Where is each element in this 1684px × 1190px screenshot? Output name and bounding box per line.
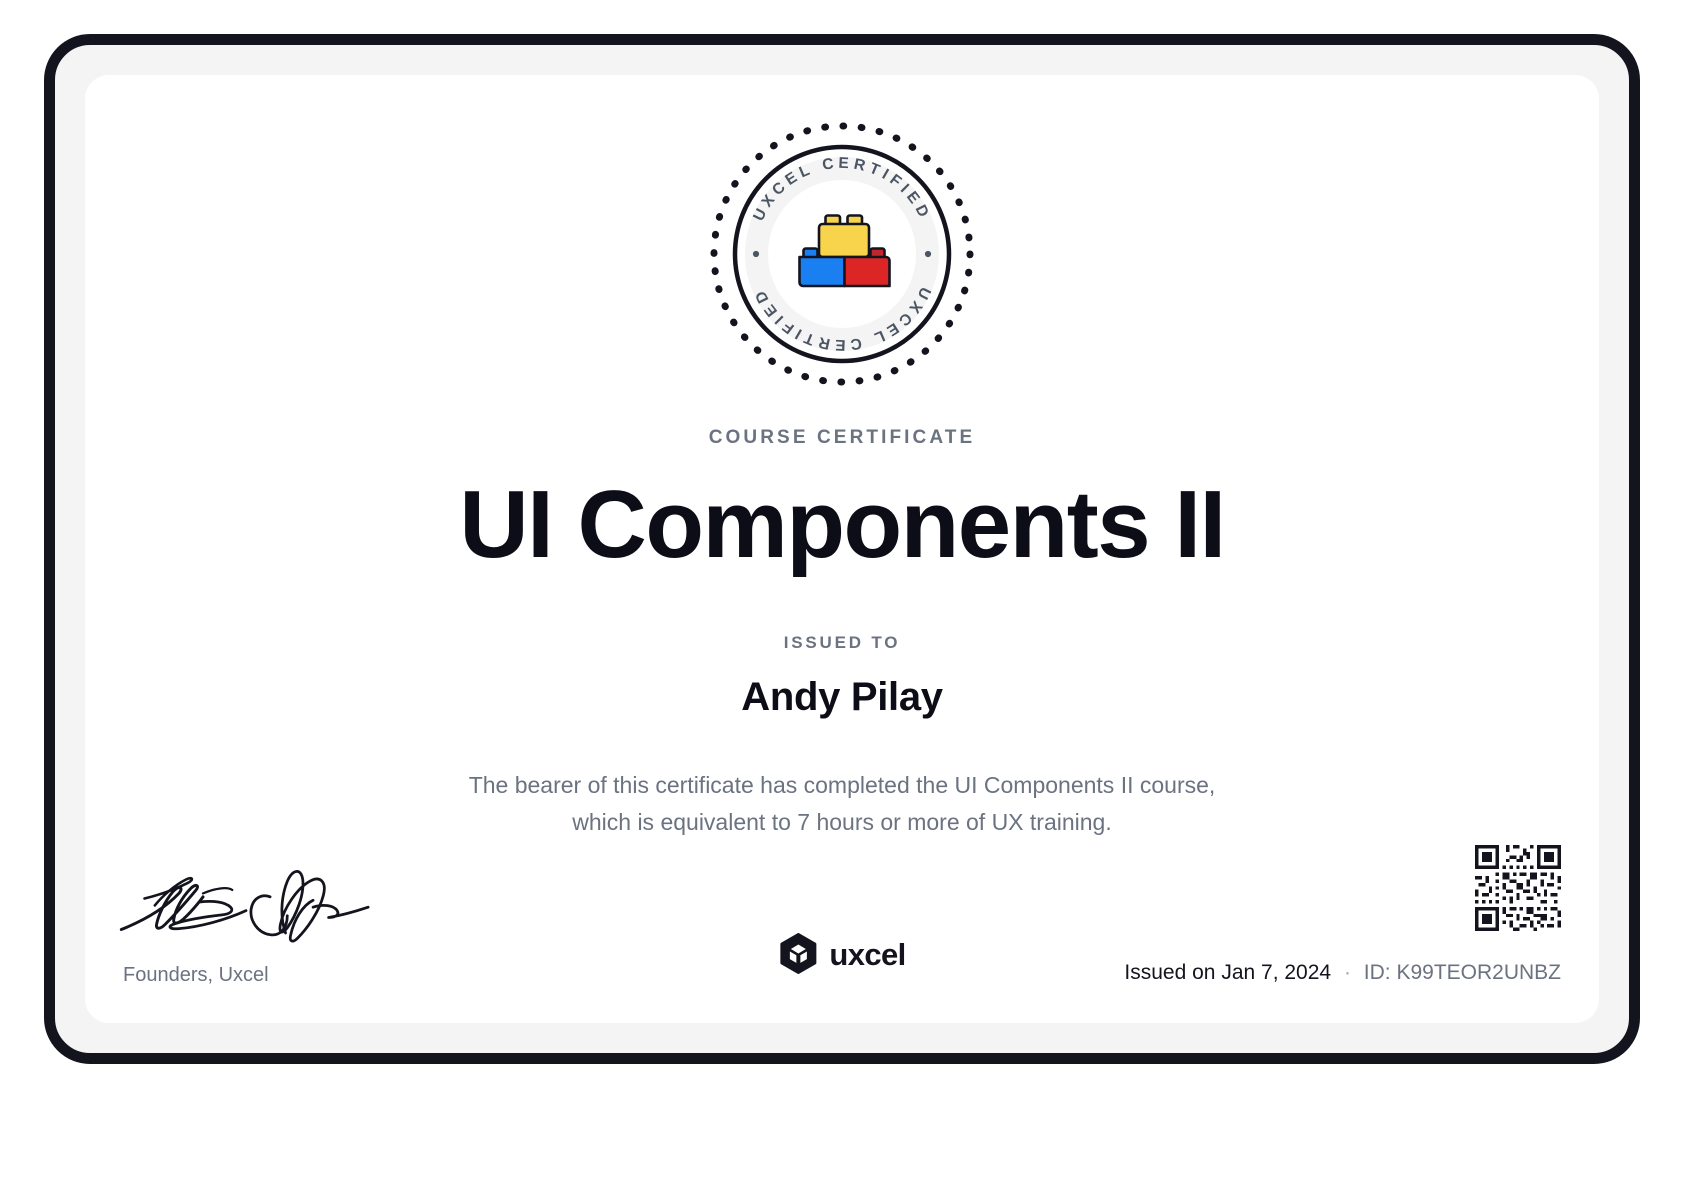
course-title: UI Components II — [85, 475, 1599, 576]
certificate-id: ID: K99TEOR2UNBZ — [1364, 961, 1561, 984]
certificate-card: UXCEL CERTIFIED UXCEL CERTIFIED — [85, 75, 1599, 1023]
seal-dot-left — [753, 251, 759, 257]
uxcel-certified-seal: UXCEL CERTIFIED UXCEL CERTIFIED — [707, 119, 977, 389]
certificate-frame: UXCEL CERTIFIED UXCEL CERTIFIED — [44, 34, 1640, 1064]
certificate-meta: Issued on Jan 7, 2024 · ID: K99TEOR2UNBZ — [1124, 961, 1561, 985]
recipient-name: Andy Pilay — [85, 675, 1599, 720]
signature-block: Founders, Uxcel — [123, 859, 463, 987]
seal-graphic: UXCEL CERTIFIED UXCEL CERTIFIED — [707, 119, 977, 389]
certificate-footer: Founders, Uxcel uxcel — [85, 793, 1599, 1023]
uxcel-brand-logo: uxcel — [778, 933, 905, 977]
uxcel-wordmark: uxcel — [829, 937, 905, 973]
meta-separator: · — [1344, 961, 1351, 984]
uxcel-hexagon-icon — [778, 933, 818, 977]
issued-on-date: Issued on Jan 7, 2024 — [1124, 961, 1331, 984]
signature-caption: Founders, Uxcel — [123, 964, 463, 987]
founders-signature-icon — [117, 859, 375, 945]
seal-dot-right — [925, 251, 931, 257]
issued-to-label: ISSUED TO — [85, 633, 1599, 653]
meta-line: Issued on Jan 7, 2024 · ID: K99TEOR2UNBZ — [1124, 961, 1561, 985]
eyebrow-label: COURSE CERTIFICATE — [85, 427, 1599, 449]
certificate-qr-code — [1475, 845, 1561, 931]
